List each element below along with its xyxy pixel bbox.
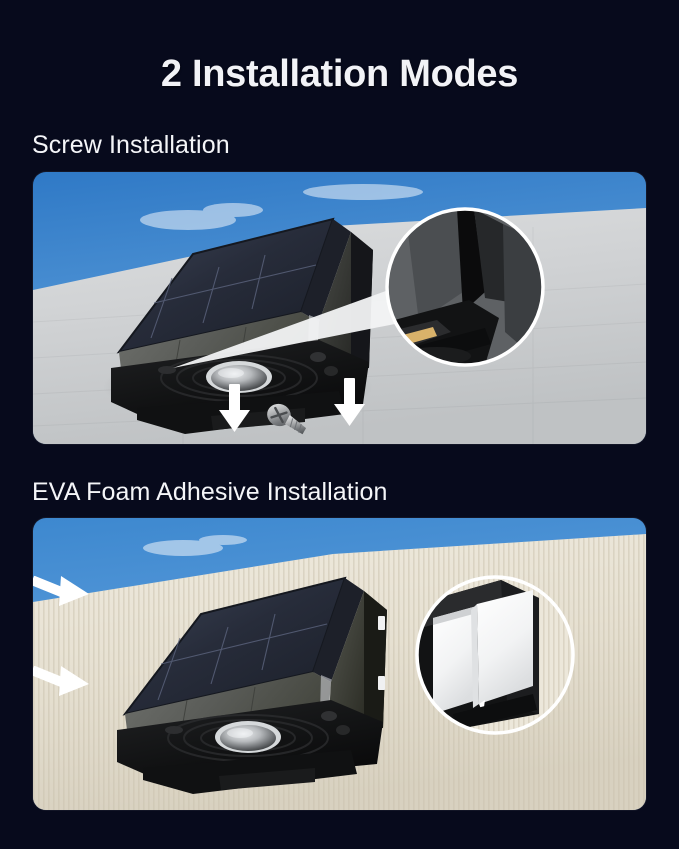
panel-eva-foam-installation (33, 518, 646, 810)
infographic-page: 2 Installation Modes Screw Installation (0, 0, 679, 849)
page-title: 2 Installation Modes (0, 53, 679, 96)
panel-screw-installation (33, 172, 646, 444)
callout-eva-foam-detail (417, 577, 573, 733)
section-label-screw: Screw Installation (32, 131, 230, 160)
eva-foam-installation-photo (33, 518, 646, 810)
section-label-eva-foam: EVA Foam Adhesive Installation (32, 478, 388, 507)
screw-installation-photo (33, 172, 646, 444)
